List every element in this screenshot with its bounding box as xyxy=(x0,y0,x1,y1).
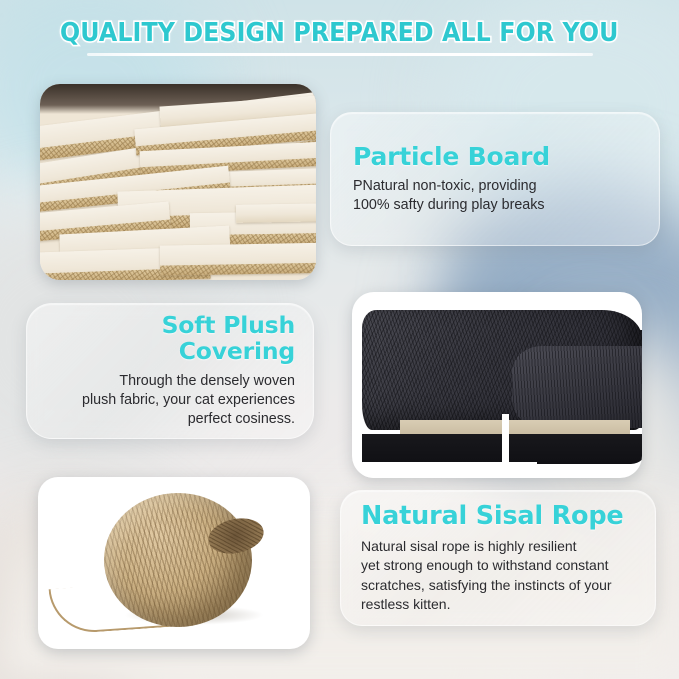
feature-body-soft-plush-covering: Through the densely woven plush fabric, … xyxy=(45,372,295,429)
feature-title-natural-sisal-rope: Natural Sisal Rope xyxy=(361,502,635,530)
plush-scene xyxy=(362,302,642,478)
feature-body-line: perfect cosiness. xyxy=(45,410,295,429)
feature-body-line: Through the densely woven xyxy=(45,372,295,391)
feature-photo-sisal-rope xyxy=(38,477,310,649)
feature-body-line: scratches, satisfying the instincts of y… xyxy=(361,576,635,595)
title-underline xyxy=(87,53,593,56)
sisal-rope-ball xyxy=(104,493,252,627)
cat-tree-post xyxy=(502,414,509,476)
page-title: QUALITY DESIGN PREPARED ALL FOR YOU xyxy=(60,18,618,48)
board-plank xyxy=(160,242,316,275)
feature-body-line: restless kitten. xyxy=(361,595,635,614)
feature-photo-plush-fabric xyxy=(352,292,642,478)
feature-body-particle-board: PNatural non-toxic, providing 100% safty… xyxy=(353,177,637,215)
feature-card-natural-sisal-rope: Natural Sisal Rope Natural sisal rope is… xyxy=(340,490,656,626)
feature-body-line: Natural sisal rope is highly resilient xyxy=(361,537,635,556)
feature-body-line: plush fabric, your cat experiences xyxy=(45,391,295,410)
rope-ball-core xyxy=(205,514,267,559)
feature-card-particle-board: Particle Board PNatural non-toxic, provi… xyxy=(330,112,660,246)
feature-title-particle-board: Particle Board xyxy=(353,143,637,171)
feature-title-soft-plush-covering: Soft Plush Covering xyxy=(45,313,295,365)
feature-card-soft-plush-covering: Soft Plush Covering Through the densely … xyxy=(26,303,314,439)
photo-white-base xyxy=(362,462,537,478)
feature-body-line: 100% safty during play breaks xyxy=(353,196,637,215)
feature-body-natural-sisal-rope: Natural sisal rope is highly resilient y… xyxy=(361,537,635,613)
headline-banner: QUALITY DESIGN PREPARED ALL FOR YOU xyxy=(0,18,679,62)
plush-fabric-fold xyxy=(512,346,642,428)
feature-photo-particle-board xyxy=(40,84,316,280)
board-plank xyxy=(236,203,316,223)
feature-body-line: PNatural non-toxic, providing xyxy=(353,177,637,196)
feature-body-line: yet strong enough to withstand constant xyxy=(361,556,635,575)
particle-board-scene xyxy=(40,84,316,280)
